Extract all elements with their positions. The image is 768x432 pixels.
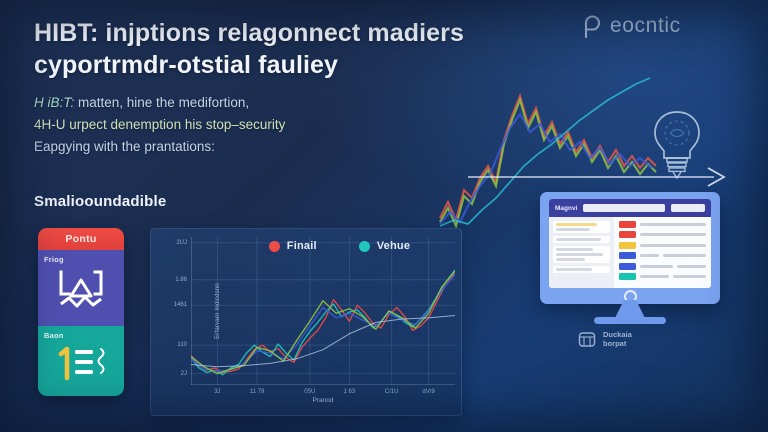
list-item[interactable] [619,252,706,259]
placeholder-line [640,275,670,278]
brand-logo[interactable]: eocntic [580,14,681,38]
infographic-canvas: eocntic HIBT: injptions relagonnect madi… [0,0,768,432]
footer-badge-text: Duckaia borpat [603,330,632,349]
dashboard-monitor-illustration[interactable]: Magnvi [540,192,720,332]
placeholder-line [556,248,593,251]
placeholder-line [556,253,603,256]
dashboard-title: Magnvi [555,205,577,212]
feature-card[interactable]: Pontu Friog Baon [38,228,124,396]
sidebar-card[interactable] [553,236,610,243]
section-heading: Smaliooundadible [34,193,166,210]
chart-x-tick: 11 79 [250,389,265,395]
chart-y-tick: 2J [181,371,187,377]
status-badge [619,221,636,228]
status-badge [619,242,636,249]
page-title: HIBT: injptions relagonnect madiers cypo… [34,18,504,81]
list-item[interactable] [619,242,706,249]
subtitle-line-1: matten, hine the medifortion, [74,95,249,110]
placeholder-line [673,275,706,278]
dashboard-sidebar [549,217,614,288]
placeholder-line [640,244,706,247]
feature-panel-baon-label: Baon [44,331,118,340]
chart-y-tick: 1.86 [175,277,187,283]
subtitle-line-2: 4H-U urpect denemption his stop–security [34,117,285,132]
list-item[interactable] [619,231,706,238]
placeholder-line [556,258,585,261]
subtitle-lead: H iB:T: [34,95,74,110]
feature-card-header: Pontu [38,228,124,250]
placeholder-line [640,254,659,257]
list-item[interactable] [619,221,706,228]
sidebar-card-highlight[interactable] [553,221,610,233]
p-mark-icon [580,14,602,38]
lightbulb-idea-icon [648,108,706,180]
status-badge [619,252,636,259]
numbered-list-icon [38,342,124,384]
placeholder-line [556,228,590,231]
chart-plot-area: Erfarvarn Indicdsnn Pranod 2J11014611.86… [191,237,455,385]
status-badge [619,263,636,270]
feature-panel-friog-label: Friog [44,255,118,264]
list-item[interactable] [619,263,706,270]
footer-badge[interactable]: Duckaia borpat [578,330,632,349]
footer-badge-line-2: borpat [603,339,626,348]
placeholder-line [556,223,597,226]
chart-x-tick: C/1U [385,389,399,395]
footer-badge-line-1: Duckaia [603,330,632,339]
feature-panel-friog[interactable]: Friog [38,250,124,326]
brand-name: eocntic [610,14,681,38]
status-badge [619,231,636,238]
placeholder-line [640,233,706,236]
page-subtitle: H iB:T: matten, hine the medifortion, 4H… [34,92,379,158]
placeholder-line [663,254,706,257]
chart-y-tick: 110 [177,342,187,348]
placeholder-line [677,265,706,268]
dashboard-list [614,217,711,288]
chart-lines [191,237,455,385]
list-item[interactable] [619,273,706,280]
subtitle-line-3: Eapgying with the prantations: [34,139,215,154]
chart-y-tick: 1461 [174,302,187,308]
sidebar-card[interactable] [553,246,610,263]
dashboard-search-input[interactable] [583,204,665,212]
placeholder-line [556,238,601,241]
chart-x-axis-label: Pranod [313,397,334,404]
chart-x-tick: 3J [214,389,220,395]
status-badge [619,273,636,280]
duck-box-icon [578,330,596,348]
placeholder-line [556,268,592,271]
dashboard-body [549,217,711,288]
chart-y-tick: 2UJ [176,240,187,246]
performance-chart-card[interactable]: Finail Vehue Erfarvarn Indicdsnn Pranod … [150,228,462,416]
placeholder-line [640,223,706,226]
monitor-body: Magnvi [540,192,720,304]
chart-x-tick: 05U [304,389,315,395]
dashboard-header-bar: Magnvi [549,199,711,217]
dashboard-action-button[interactable] [671,204,705,212]
chart-x-tick: dVr9 [422,389,434,395]
placeholder-line [640,265,673,268]
feature-panel-baon[interactable]: Baon [38,326,124,396]
chart-x-tick: 1 63 [344,389,356,395]
mountain-chart-icon [38,266,124,312]
chart-y-axis-label: Erfarvarn Indicdsnn [215,283,221,339]
sidebar-card[interactable] [553,266,610,273]
monitor-stand-base [594,317,666,324]
monitor-screen: Magnvi [549,199,711,288]
